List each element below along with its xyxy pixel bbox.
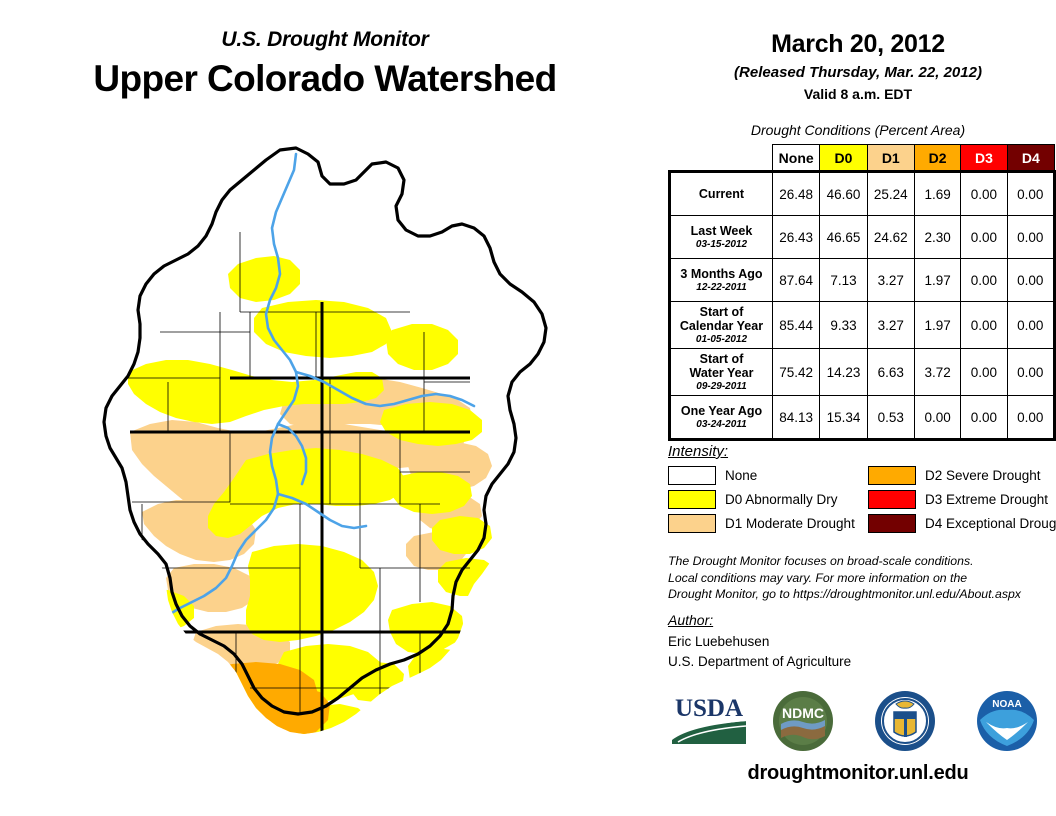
- info-panel: March 20, 2012 (Released Thursday, Mar. …: [660, 0, 1056, 816]
- table-row: One Year Ago03-24-201184.1315.340.530.00…: [670, 396, 1055, 440]
- cell-d0: 46.60: [820, 172, 867, 216]
- disclaimer-line-2: Local conditions may vary. For more info…: [668, 570, 1053, 587]
- logo-row: USDA NDMC: [660, 690, 1056, 762]
- cell-none: 85.44: [772, 302, 819, 349]
- legend-label-d3: D3 Extreme Drought: [925, 492, 1048, 507]
- drought-conditions-table: None D0 D1 D2 D3 D4 Current26.4846.6025.…: [668, 144, 1056, 441]
- cell-d2: 1.97: [914, 302, 960, 349]
- legend-item-d0: D0 Abnormally Dry: [668, 490, 868, 509]
- site-url[interactable]: droughtmonitor.unl.edu: [660, 762, 1056, 785]
- legend-item-d1: D1 Moderate Drought: [668, 514, 868, 533]
- cell-d1: 3.27: [867, 259, 914, 302]
- legend-item-d4: D4 Exceptional Drought: [868, 514, 1056, 533]
- legend-label-none: None: [725, 468, 757, 483]
- legend-label-d0: D0 Abnormally Dry: [725, 492, 838, 507]
- svg-text:USDA: USDA: [675, 695, 743, 722]
- row-date: 01-05-2012: [673, 334, 770, 345]
- svg-text:NDMC: NDMC: [782, 705, 824, 721]
- cell-d1: 25.24: [867, 172, 914, 216]
- row-label: Start ofWater Year09-29-2011: [670, 349, 773, 396]
- cell-d4: 0.00: [1007, 259, 1054, 302]
- cell-d4: 0.00: [1007, 396, 1054, 440]
- row-label: Start ofCalendar Year01-05-2012: [670, 302, 773, 349]
- table-header: None D0 D1 D2 D3 D4: [670, 145, 1055, 172]
- intensity-legend: Intensity: NoneD2 Severe DroughtD0 Abnor…: [668, 443, 1048, 533]
- ndmc-logo[interactable]: NDMC: [772, 690, 834, 757]
- cell-d3: 0.00: [961, 216, 1007, 259]
- cell-d1: 6.63: [867, 349, 914, 396]
- cell-none: 84.13: [772, 396, 819, 440]
- cell-d4: 0.00: [1007, 349, 1054, 396]
- cell-d0: 14.23: [820, 349, 867, 396]
- commerce-seal-logo[interactable]: [874, 690, 936, 757]
- cell-d4: 0.00: [1007, 302, 1054, 349]
- disclaimer-line-3: Drought Monitor, go to https://droughtmo…: [668, 586, 1053, 603]
- cell-none: 75.42: [772, 349, 819, 396]
- legend-swatch-d0: [668, 490, 716, 509]
- header-spacer: [670, 145, 773, 172]
- row-label: 3 Months Ago12-22-2011: [670, 259, 773, 302]
- row-date: 12-22-2011: [673, 282, 770, 293]
- row-date: 03-15-2012: [673, 239, 770, 250]
- legend-grid: NoneD2 Severe DroughtD0 Abnormally DryD3…: [668, 466, 1048, 533]
- cell-none: 26.43: [772, 216, 819, 259]
- legend-swatch-d2: [868, 466, 916, 485]
- cell-d3: 0.00: [961, 349, 1007, 396]
- drought-map[interactable]: [0, 132, 660, 816]
- cell-d0: 46.65: [820, 216, 867, 259]
- cell-d3: 0.00: [961, 396, 1007, 440]
- row-label: Current: [670, 172, 773, 216]
- cell-d0: 9.33: [820, 302, 867, 349]
- cell-d0: 15.34: [820, 396, 867, 440]
- table-caption: Drought Conditions (Percent Area): [660, 122, 1056, 138]
- cell-none: 26.48: [772, 172, 819, 216]
- cell-d2: 0.00: [914, 396, 960, 440]
- svg-text:NOAA: NOAA: [992, 699, 1021, 710]
- column-header-d2: D2: [914, 145, 960, 172]
- row-date: 09-29-2011: [673, 381, 770, 392]
- cell-d1: 3.27: [867, 302, 914, 349]
- cell-d2: 2.30: [914, 216, 960, 259]
- table-row: Current26.4846.6025.241.690.000.00: [670, 172, 1055, 216]
- column-header-d3: D3: [961, 145, 1007, 172]
- map-svg: [0, 132, 660, 816]
- date-block: March 20, 2012 (Released Thursday, Mar. …: [660, 30, 1056, 102]
- page-title: Upper Colorado Watershed: [0, 58, 650, 100]
- row-label: Last Week03-15-2012: [670, 216, 773, 259]
- column-header-none: None: [772, 145, 819, 172]
- column-header-d4: D4: [1007, 145, 1054, 172]
- legend-label-d4: D4 Exceptional Drought: [925, 516, 1056, 531]
- table-row: 3 Months Ago12-22-201187.647.133.271.970…: [670, 259, 1055, 302]
- legend-swatch-none: [668, 466, 716, 485]
- cell-d3: 0.00: [961, 172, 1007, 216]
- cell-d2: 1.69: [914, 172, 960, 216]
- disclaimer-text: The Drought Monitor focuses on broad-sca…: [668, 553, 1053, 603]
- legend-label-d2: D2 Severe Drought: [925, 468, 1041, 483]
- cell-d1: 24.62: [867, 216, 914, 259]
- author-title: Author:: [668, 612, 1048, 628]
- author-org: U.S. Department of Agriculture: [668, 652, 1048, 672]
- legend-item-d2: D2 Severe Drought: [868, 466, 1056, 485]
- legend-label-d1: D1 Moderate Drought: [725, 516, 855, 531]
- disclaimer-line-1: The Drought Monitor focuses on broad-sca…: [668, 553, 1053, 570]
- map-panel: U.S. Drought Monitor Upper Colorado Wate…: [0, 0, 660, 816]
- legend-item-none: None: [668, 466, 868, 485]
- cell-d4: 0.00: [1007, 216, 1054, 259]
- column-header-d0: D0: [820, 145, 867, 172]
- row-label: One Year Ago03-24-2011: [670, 396, 773, 440]
- noaa-logo[interactable]: NOAA: [976, 690, 1038, 757]
- cell-d0: 7.13: [820, 259, 867, 302]
- column-header-d1: D1: [867, 145, 914, 172]
- usda-logo[interactable]: USDA: [670, 690, 748, 751]
- table-body: Current26.4846.6025.241.690.000.00Last W…: [670, 172, 1055, 440]
- title-block: U.S. Drought Monitor Upper Colorado Wate…: [0, 28, 650, 100]
- table-header-row: None D0 D1 D2 D3 D4: [670, 145, 1055, 172]
- legend-swatch-d1: [668, 514, 716, 533]
- cell-d4: 0.00: [1007, 172, 1054, 216]
- cell-d3: 0.00: [961, 259, 1007, 302]
- cell-d2: 3.72: [914, 349, 960, 396]
- cell-d3: 0.00: [961, 302, 1007, 349]
- cell-d1: 0.53: [867, 396, 914, 440]
- cell-none: 87.64: [772, 259, 819, 302]
- cell-d2: 1.97: [914, 259, 960, 302]
- row-date: 03-24-2011: [673, 419, 770, 430]
- author-name: Eric Luebehusen: [668, 632, 1048, 652]
- table-row: Start ofWater Year09-29-201175.4214.236.…: [670, 349, 1055, 396]
- legend-swatch-d3: [868, 490, 916, 509]
- legend-item-d3: D3 Extreme Drought: [868, 490, 1056, 509]
- map-date: March 20, 2012: [660, 30, 1056, 59]
- valid-time: Valid 8 a.m. EDT: [660, 86, 1056, 102]
- legend-swatch-d4: [868, 514, 916, 533]
- page-subtitle: U.S. Drought Monitor: [0, 28, 650, 52]
- release-date: (Released Thursday, Mar. 22, 2012): [660, 64, 1056, 81]
- table-row: Start ofCalendar Year01-05-201285.449.33…: [670, 302, 1055, 349]
- author-block: Author: Eric Luebehusen U.S. Department …: [668, 612, 1048, 671]
- table-row: Last Week03-15-201226.4346.6524.622.300.…: [670, 216, 1055, 259]
- legend-title: Intensity:: [668, 443, 1048, 460]
